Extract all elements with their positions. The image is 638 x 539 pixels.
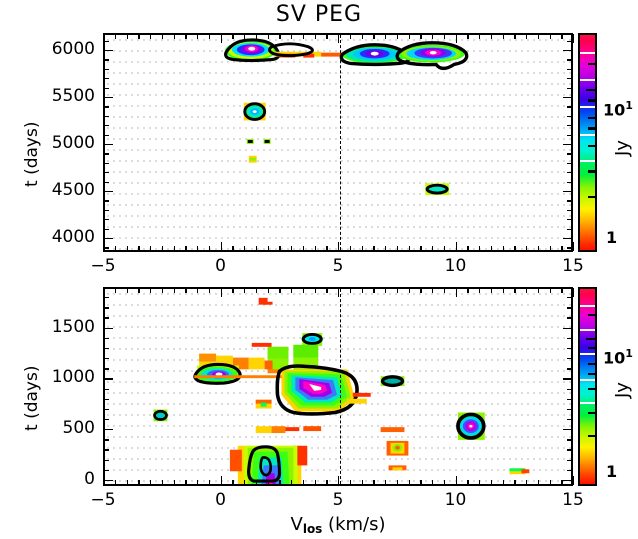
reference-line-v5-bottom	[340, 289, 341, 484]
x-tick-bottom	[127, 480, 128, 485]
x-tick-bottom	[491, 480, 492, 485]
bottom-panel-y-tick	[567, 460, 572, 461]
x-tick-bottom	[291, 480, 292, 485]
top-panel-y-tick	[104, 191, 113, 192]
x-tick-top	[526, 34, 527, 39]
bottom-panel-contours	[105, 289, 571, 484]
x-tick-label-top-axis: −5	[73, 258, 133, 275]
x-tick-bottom	[338, 288, 339, 297]
x-tick-bottom	[303, 480, 304, 485]
top-panel-y-tick	[563, 50, 572, 51]
x-tick-top	[315, 246, 316, 251]
top-panel-y-tick	[104, 106, 109, 107]
x-tick-bottom	[232, 480, 233, 485]
bottom-panel-y-tick	[567, 307, 572, 308]
x-tick-bottom	[573, 476, 574, 485]
x-tick-bottom	[432, 480, 433, 485]
x-tick-bottom	[573, 288, 574, 297]
x-tick-bottom	[315, 480, 316, 485]
x-tick-top	[197, 246, 198, 251]
x-tick-bottom	[526, 288, 527, 293]
x-tick-top	[373, 34, 374, 39]
top-panel-y-tick	[567, 153, 572, 154]
bottom-panel-y-tick	[104, 399, 109, 400]
x-tick-bottom	[185, 288, 186, 293]
x-tick-top	[432, 246, 433, 251]
top-panel-y-tick	[104, 78, 109, 79]
bottom-panel-y-tick	[567, 439, 572, 440]
bottom-panel-y-tick	[567, 449, 572, 450]
x-tick-top	[268, 34, 269, 39]
top-panel-y-tick	[104, 247, 109, 248]
x-tick-label-top-axis: 15	[543, 258, 603, 275]
bottom-panel-y-tick	[104, 328, 113, 329]
x-tick-top	[409, 246, 410, 251]
colorbar-top-low-label: 1	[606, 228, 617, 247]
x-tick-top	[256, 34, 257, 39]
top-panel-y-tick-label: 4500	[7, 182, 95, 199]
x-tick-top	[127, 34, 128, 39]
top-panel-plot[interactable]	[103, 33, 573, 252]
x-tick-bottom	[479, 288, 480, 293]
bottom-panel-y-tick	[567, 358, 572, 359]
x-tick-bottom	[350, 288, 351, 293]
bottom-panel-y-tick	[567, 317, 572, 318]
bottom-panel-y-tick	[567, 348, 572, 349]
x-tick-top	[550, 34, 551, 39]
top-panel-y-tick	[104, 153, 109, 154]
x-tick-top	[127, 246, 128, 251]
x-tick-bottom	[491, 288, 492, 293]
x-tick-top	[514, 34, 515, 39]
x-tick-top	[503, 246, 504, 251]
x-tick-bottom	[444, 480, 445, 485]
x-tick-bottom	[221, 476, 222, 485]
top-panel-y-tick	[567, 59, 572, 60]
x-tick-bottom	[268, 480, 269, 485]
x-tick-bottom	[385, 480, 386, 485]
x-tick-top	[550, 246, 551, 251]
top-panel-y-tick	[567, 247, 572, 248]
x-tick-bottom	[326, 480, 327, 485]
top-panel-y-tick	[104, 182, 109, 183]
bottom-panel-y-tick	[563, 378, 572, 379]
x-tick-bottom	[538, 480, 539, 485]
x-tick-top	[232, 34, 233, 39]
x-tick-label-bottom-axis: 15	[543, 492, 603, 509]
top-panel-y-tick	[563, 191, 572, 192]
x-tick-top	[467, 34, 468, 39]
x-tick-top	[162, 246, 163, 251]
bottom-panel-y-tick	[104, 439, 109, 440]
bottom-panel-y-tick	[104, 287, 109, 288]
bottom-panel-y-tick	[104, 470, 109, 471]
x-tick-bottom	[162, 288, 163, 293]
top-panel-y-tick	[567, 78, 572, 79]
x-tick-bottom	[150, 288, 151, 293]
bottom-panel-y-tick	[567, 368, 572, 369]
colorbar-bottom-low-label: 1	[606, 462, 617, 481]
x-tick-top	[444, 246, 445, 251]
x-tick-top	[279, 34, 280, 39]
x-tick-top	[420, 246, 421, 251]
x-tick-bottom	[209, 480, 210, 485]
x-tick-bottom	[326, 288, 327, 293]
bottom-panel-y-tick	[567, 419, 572, 420]
x-tick-bottom	[479, 480, 480, 485]
x-tick-bottom	[138, 288, 139, 293]
top-panel-y-tick	[104, 69, 109, 70]
x-tick-bottom	[432, 288, 433, 293]
x-tick-top	[362, 246, 363, 251]
x-tick-bottom	[115, 480, 116, 485]
top-panel-y-tick	[104, 50, 113, 51]
x-tick-bottom	[315, 288, 316, 293]
bottom-panel-y-tick	[104, 297, 109, 298]
x-tick-bottom	[350, 480, 351, 485]
bottom-panel-y-tick	[104, 338, 109, 339]
page-title: SV PEG	[0, 2, 638, 27]
top-panel-y-tick	[104, 59, 109, 60]
x-tick-top	[291, 34, 292, 39]
x-tick-top	[385, 34, 386, 39]
x-tick-top	[538, 34, 539, 39]
x-tick-top	[573, 242, 574, 251]
x-tick-top	[514, 246, 515, 251]
bottom-panel-y-tick	[104, 368, 109, 369]
x-tick-bottom	[279, 480, 280, 485]
x-tick-top	[162, 34, 163, 39]
x-axis-title: Vlos (km/s)	[103, 514, 573, 536]
bottom-panel-y-tick	[104, 348, 109, 349]
x-tick-bottom	[362, 480, 363, 485]
bottom-panel-y-tick	[567, 409, 572, 410]
top-panel-y-tick	[567, 106, 572, 107]
x-tick-bottom	[174, 288, 175, 293]
x-tick-bottom	[303, 288, 304, 293]
top-panel-y-tick	[104, 116, 109, 117]
top-panel-y-tick	[104, 219, 109, 220]
top-panel-y-tick	[567, 41, 572, 42]
x-tick-top	[326, 246, 327, 251]
x-tick-label-bottom-axis: −5	[73, 492, 133, 509]
colorbar-top-high-label: 101	[603, 99, 633, 119]
x-tick-bottom	[244, 288, 245, 293]
bottom-panel-y-tick	[563, 429, 572, 430]
top-panel-y-tick	[104, 210, 109, 211]
x-tick-top	[538, 246, 539, 251]
top-panel-y-tick	[104, 88, 109, 89]
x-tick-bottom	[561, 288, 562, 293]
bottom-panel-y-tick	[104, 409, 109, 410]
top-panel-y-tick	[567, 88, 572, 89]
bottom-panel-y-tick	[104, 317, 109, 318]
x-tick-bottom	[550, 288, 551, 293]
x-tick-bottom	[456, 288, 457, 297]
x-tick-top	[209, 34, 210, 39]
x-tick-bottom	[373, 288, 374, 293]
x-tick-top	[315, 34, 316, 39]
x-tick-bottom	[221, 288, 222, 297]
x-tick-bottom	[291, 288, 292, 293]
x-tick-bottom	[550, 480, 551, 485]
x-tick-top	[174, 34, 175, 39]
x-tick-bottom	[197, 288, 198, 293]
x-tick-bottom	[385, 288, 386, 293]
top-panel-y-tick	[567, 69, 572, 70]
bottom-panel-y-tick	[104, 480, 113, 481]
top-panel-y-tick	[567, 135, 572, 136]
top-panel-y-tick	[104, 97, 113, 98]
bottom-panel-y-tick	[567, 287, 572, 288]
x-tick-top	[185, 246, 186, 251]
x-tick-bottom	[467, 288, 468, 293]
top-panel-y-tick	[567, 116, 572, 117]
x-tick-bottom	[209, 288, 210, 293]
bottom-panel-y-tick	[104, 378, 113, 379]
x-tick-top	[268, 246, 269, 251]
top-panel-y-tick	[104, 238, 113, 239]
top-panel-y-tick	[567, 163, 572, 164]
x-tick-top	[174, 246, 175, 251]
x-tick-bottom	[127, 288, 128, 293]
x-tick-top	[420, 34, 421, 39]
bottom-panel-y-tick	[563, 480, 572, 481]
top-panel-y-tick	[104, 135, 109, 136]
bottom-panel-y-tick	[567, 470, 572, 471]
x-tick-top	[479, 34, 480, 39]
top-panel-y-tick	[563, 144, 572, 145]
x-tick-top	[350, 34, 351, 39]
top-panel-y-tick-label: 5500	[7, 88, 95, 105]
x-tick-bottom	[268, 288, 269, 293]
x-tick-top	[150, 34, 151, 39]
x-tick-top	[138, 34, 139, 39]
top-panel-y-tick	[104, 200, 109, 201]
x-tick-top	[303, 34, 304, 39]
x-tick-top	[526, 246, 527, 251]
x-tick-top	[197, 34, 198, 39]
bottom-panel-y-tick	[104, 389, 109, 390]
x-tick-bottom	[150, 480, 151, 485]
x-tick-top	[303, 246, 304, 251]
x-tick-label-bottom-axis: 10	[426, 492, 486, 509]
x-tick-top	[115, 34, 116, 39]
x-tick-top	[338, 242, 339, 251]
top-panel-y-tick	[104, 144, 113, 145]
x-tick-bottom	[138, 480, 139, 485]
x-tick-bottom	[244, 480, 245, 485]
x-tick-top	[221, 242, 222, 251]
bottom-panel-y-tick	[567, 338, 572, 339]
x-tick-top	[467, 246, 468, 251]
bottom-panel-y-tick	[104, 358, 109, 359]
top-panel-y-tick	[104, 41, 109, 42]
top-panel-y-axis-title: t (days)	[22, 121, 42, 186]
x-tick-top	[479, 246, 480, 251]
bottom-panel-y-tick-label: 1000	[7, 369, 95, 386]
x-tick-bottom	[397, 288, 398, 293]
x-tick-top	[397, 246, 398, 251]
x-tick-top	[456, 34, 457, 43]
x-tick-top	[150, 246, 151, 251]
x-tick-top	[350, 246, 351, 251]
x-tick-bottom	[115, 288, 116, 293]
reference-line-v5-top	[340, 35, 341, 250]
x-tick-top	[209, 246, 210, 251]
x-tick-top	[561, 34, 562, 39]
x-tick-bottom	[420, 480, 421, 485]
bottom-panel-y-tick	[567, 389, 572, 390]
x-tick-top	[138, 246, 139, 251]
x-tick-bottom	[514, 288, 515, 293]
x-tick-top	[185, 34, 186, 39]
bottom-panel-plot[interactable]	[103, 287, 573, 486]
x-tick-bottom	[514, 480, 515, 485]
x-tick-bottom	[232, 288, 233, 293]
x-tick-top	[444, 34, 445, 39]
bottom-panel-y-tick-label: 500	[7, 420, 95, 437]
x-tick-bottom	[526, 480, 527, 485]
x-tick-bottom	[256, 288, 257, 293]
bottom-panel-y-tick	[104, 419, 109, 420]
top-panel-y-tick	[104, 172, 109, 173]
x-tick-top	[362, 34, 363, 39]
x-tick-top	[573, 34, 574, 43]
x-tick-bottom	[503, 480, 504, 485]
x-tick-bottom	[409, 480, 410, 485]
x-tick-label-bottom-axis: 5	[308, 492, 368, 509]
x-tick-top	[221, 34, 222, 43]
colorbar-top-unit-label: Jy	[612, 140, 633, 156]
bottom-panel-y-tick	[567, 399, 572, 400]
colorbar-bottom[interactable]	[578, 287, 597, 486]
top-panel-y-tick	[563, 238, 572, 239]
bottom-panel-y-tick	[104, 429, 113, 430]
x-tick-top	[373, 246, 374, 251]
x-tick-top	[397, 34, 398, 39]
x-tick-label-top-axis: 5	[308, 258, 368, 275]
x-tick-bottom	[373, 480, 374, 485]
x-tick-bottom	[362, 288, 363, 293]
x-tick-top	[338, 34, 339, 43]
x-tick-top	[244, 34, 245, 39]
figure-canvas: SV PEG	[0, 0, 638, 539]
x-tick-top	[232, 246, 233, 251]
x-tick-top	[503, 34, 504, 39]
top-panel-y-tick	[567, 229, 572, 230]
top-panel-y-tick	[567, 210, 572, 211]
x-tick-top	[256, 246, 257, 251]
x-tick-top	[385, 246, 386, 251]
bottom-panel-y-tick	[563, 328, 572, 329]
top-panel-y-tick	[104, 125, 109, 126]
x-tick-top	[491, 246, 492, 251]
x-tick-top	[326, 34, 327, 39]
x-tick-top	[456, 242, 457, 251]
colorbar-bottom-unit-label: Jy	[612, 382, 633, 398]
bottom-panel-y-tick	[104, 307, 109, 308]
top-panel-contours	[105, 35, 571, 250]
x-tick-top	[279, 246, 280, 251]
x-tick-bottom	[162, 480, 163, 485]
x-tick-bottom	[538, 288, 539, 293]
bottom-panel-y-tick-label: 1500	[7, 319, 95, 336]
x-tick-bottom	[467, 480, 468, 485]
colorbar-bottom-high-label: 101	[603, 347, 633, 367]
top-panel-y-tick	[567, 172, 572, 173]
bottom-panel-y-tick	[104, 460, 109, 461]
bottom-panel-y-tick	[104, 449, 109, 450]
x-tick-bottom	[444, 288, 445, 293]
x-tick-top	[432, 34, 433, 39]
bottom-panel-y-tick-label: 0	[7, 471, 95, 488]
x-tick-bottom	[420, 288, 421, 293]
x-tick-bottom	[185, 480, 186, 485]
x-tick-bottom	[409, 288, 410, 293]
top-panel-y-tick	[567, 125, 572, 126]
x-tick-bottom	[103, 288, 104, 297]
x-tick-bottom	[256, 480, 257, 485]
x-tick-top	[244, 246, 245, 251]
x-tick-bottom	[397, 480, 398, 485]
x-tick-bottom	[456, 476, 457, 485]
x-tick-bottom	[338, 476, 339, 485]
top-panel-y-tick	[563, 97, 572, 98]
x-tick-bottom	[503, 288, 504, 293]
x-tick-label-top-axis: 0	[191, 258, 251, 275]
x-tick-bottom	[174, 480, 175, 485]
x-tick-top	[291, 246, 292, 251]
top-panel-y-tick	[104, 229, 109, 230]
top-panel-y-tick-label: 6000	[7, 41, 95, 58]
x-tick-bottom	[279, 288, 280, 293]
x-tick-label-bottom-axis: 0	[191, 492, 251, 509]
x-tick-top	[561, 246, 562, 251]
top-panel-y-tick	[567, 219, 572, 220]
x-tick-top	[115, 246, 116, 251]
top-panel-y-tick	[104, 163, 109, 164]
x-tick-bottom	[197, 480, 198, 485]
x-tick-top	[409, 34, 410, 39]
x-tick-label-top-axis: 10	[426, 258, 486, 275]
top-panel-y-tick	[567, 200, 572, 201]
top-panel-y-tick-label: 4000	[7, 229, 95, 246]
top-panel-y-tick	[567, 182, 572, 183]
colorbar-top[interactable]	[578, 33, 597, 252]
top-panel-y-tick-label: 5000	[7, 135, 95, 152]
x-tick-top	[491, 34, 492, 39]
bottom-panel-y-tick	[567, 297, 572, 298]
